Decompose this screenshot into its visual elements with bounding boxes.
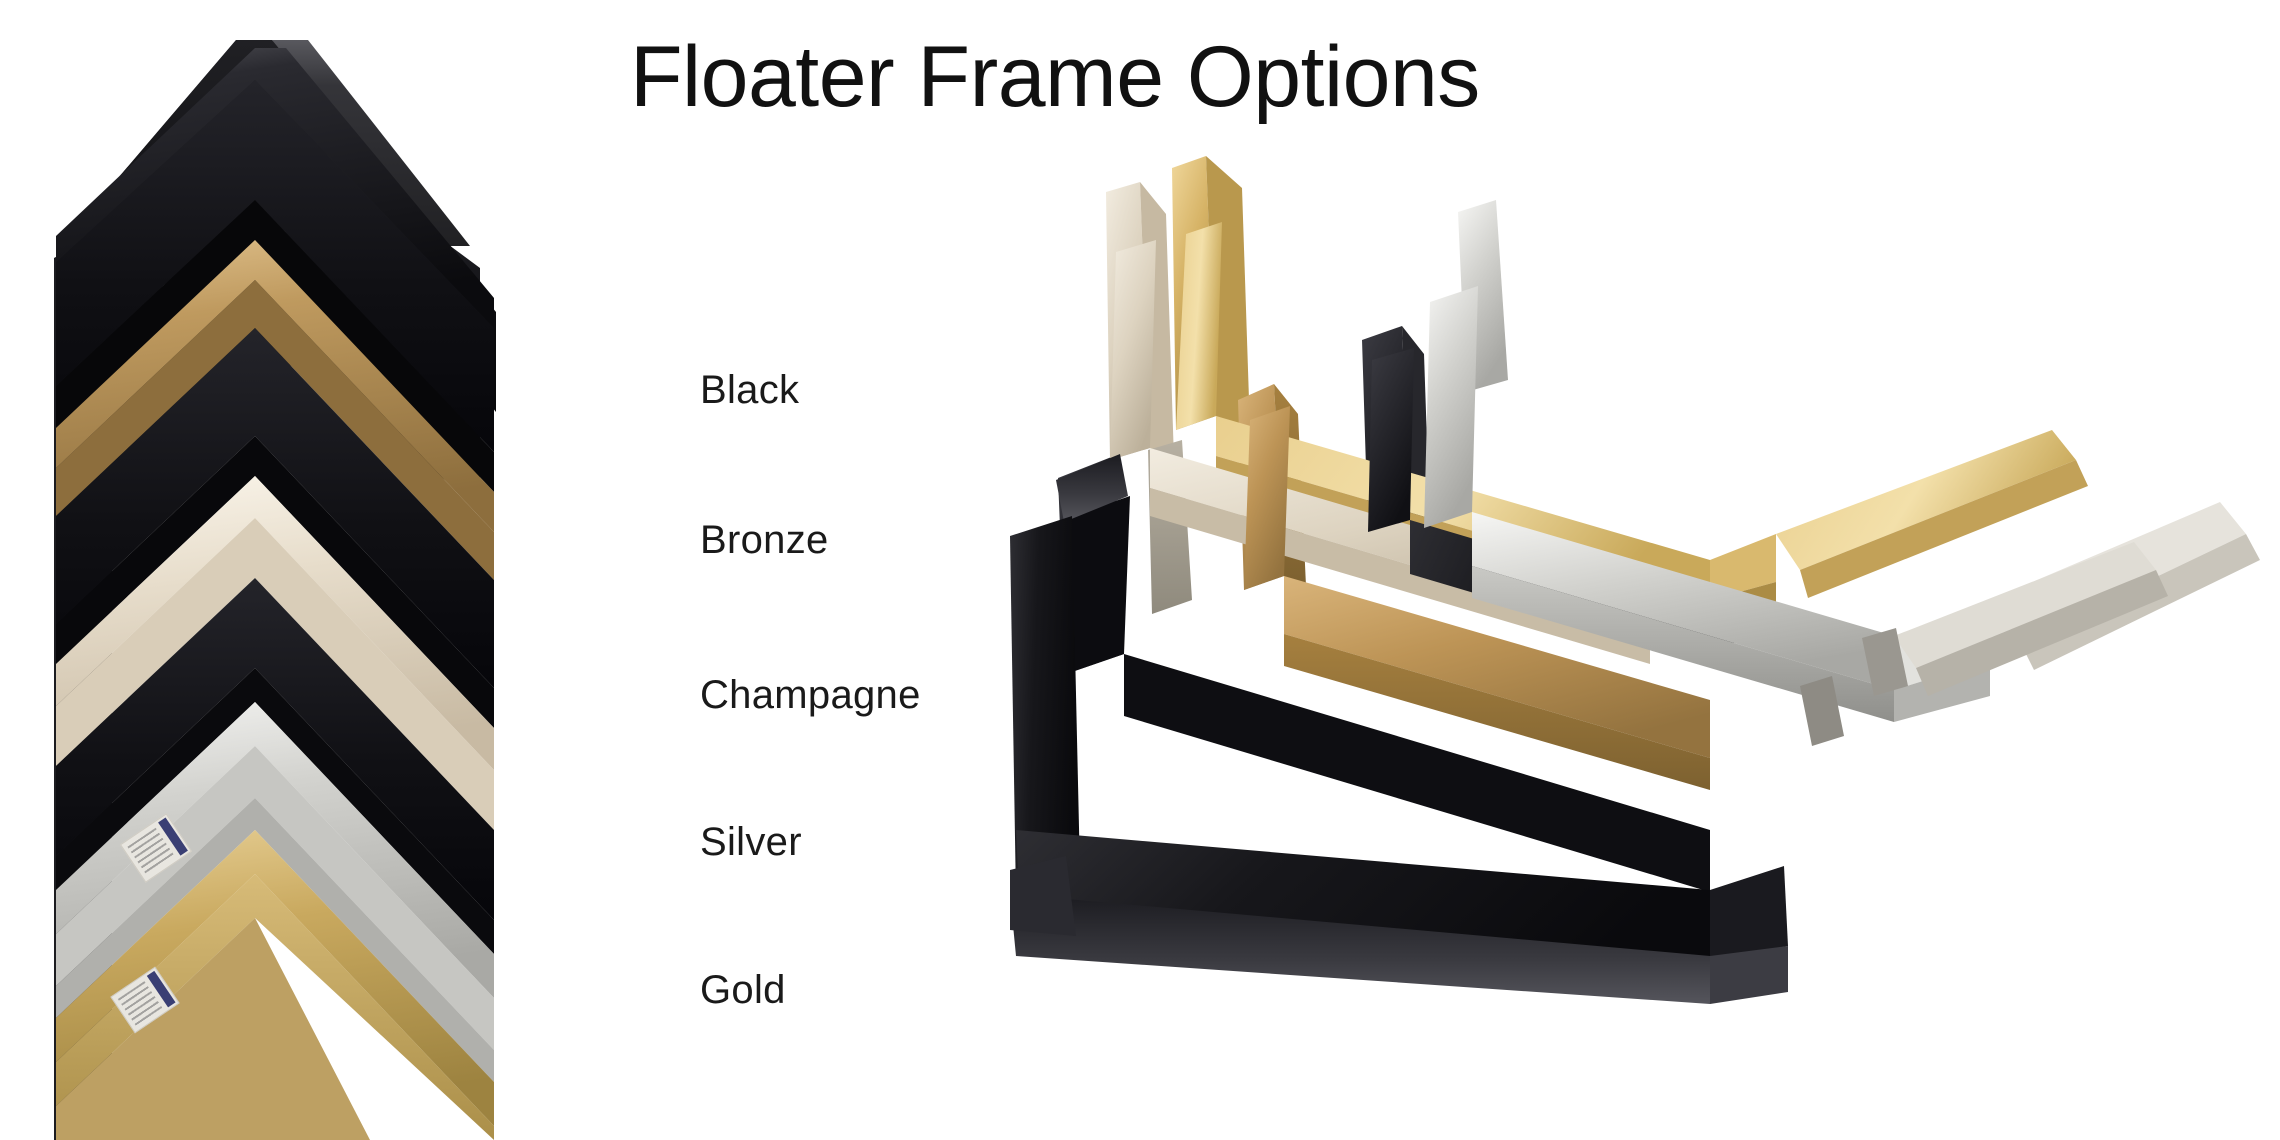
nested-frame-corners — [1010, 130, 2280, 1060]
page-title: Floater Frame Options — [630, 32, 1650, 122]
chevron-stack — [40, 40, 700, 1140]
frame-corners-photo — [1010, 130, 2280, 1060]
slide-canvas: Floater Frame Options — [0, 0, 2280, 1140]
swatch-label-black: Black — [700, 368, 799, 413]
frame-stack-photo — [40, 40, 700, 1140]
chevron-layers — [40, 40, 700, 1140]
swatch-label-champagne: Champagne — [700, 673, 921, 718]
swatch-label-bronze: Bronze — [700, 518, 829, 563]
swatch-label-gold: Gold — [700, 968, 786, 1013]
swatch-label-silver: Silver — [700, 820, 802, 865]
